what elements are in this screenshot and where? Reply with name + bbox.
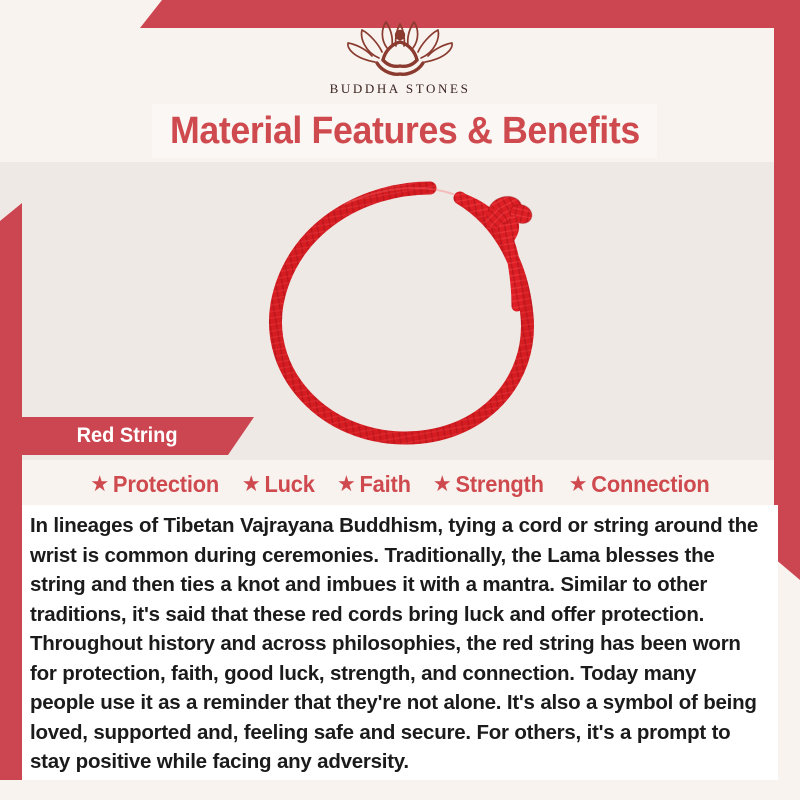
benefit-label: Connection: [591, 471, 709, 498]
title-banner: Material Features & Benefits: [152, 104, 657, 158]
page-title: Material Features & Benefits: [170, 110, 640, 153]
section-ribbon: Red String: [22, 417, 254, 455]
section-ribbon-label: Red String: [77, 424, 178, 448]
benefit-connection: ★ Connection: [569, 471, 710, 498]
infographic-poster: BUDDHA STONES Material Features & Benefi…: [0, 0, 800, 800]
lotus-meditation-figure-icon: [335, 18, 465, 80]
decorative-left-red-bar-upper: [0, 203, 22, 425]
benefit-strength: ★ Strength: [433, 471, 544, 498]
benefit-label: Protection: [113, 471, 219, 498]
benefit-luck: ★ Luck: [242, 471, 315, 498]
product-image: [255, 166, 565, 456]
description-paragraph: In lineages of Tibetan Vajrayana Buddhis…: [30, 511, 766, 777]
star-icon: ★: [90, 473, 109, 495]
red-braided-string-bracelet-icon: [255, 166, 565, 456]
benefit-faith: ★ Faith: [337, 471, 411, 498]
brand-name: BUDDHA STONES: [330, 81, 471, 97]
star-icon: ★: [433, 473, 452, 495]
description-block: In lineages of Tibetan Vajrayana Buddhis…: [22, 505, 778, 780]
brand-logo: BUDDHA STONES: [0, 18, 800, 98]
benefits-row: ★ Protection ★ Luck ★ Faith ★ Strength ★…: [22, 466, 778, 502]
decorative-left-red-bar-lower: [0, 425, 22, 780]
benefit-label: Faith: [359, 471, 410, 498]
star-icon: ★: [569, 473, 588, 495]
star-icon: ★: [337, 473, 356, 495]
star-icon: ★: [242, 473, 261, 495]
benefit-label: Strength: [456, 471, 544, 498]
benefit-label: Luck: [265, 471, 315, 498]
benefit-protection: ★ Protection: [90, 471, 219, 498]
